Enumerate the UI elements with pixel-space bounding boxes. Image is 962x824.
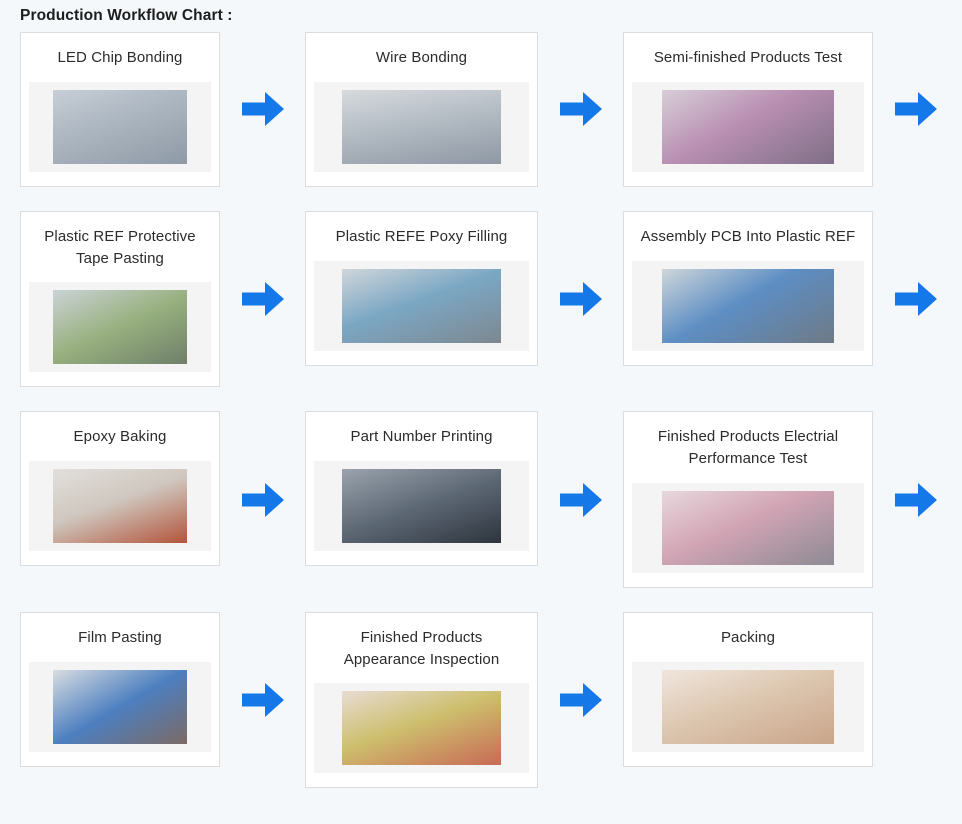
workflow-row: LED Chip BondingWire BondingSemi-finishe… [0,32,962,187]
step-photo-band [632,662,864,752]
film-pasting-photo [53,670,188,744]
step-card[interactable]: Finished Products Appearance Inspection [305,612,538,789]
workflow-step: Plastic REFE Poxy Filling [305,211,538,366]
workflow-row: Plastic REF Protective Tape PastingPlast… [0,211,962,388]
step-title: Wire Bonding [370,47,473,69]
arrow-right-icon [873,411,958,588]
plastic-ref-protective-tape-pasting-photo [53,290,188,364]
step-title: Epoxy Baking [68,426,173,448]
arrow-right-icon [873,211,958,388]
step-title: Plastic REFE Poxy Filling [330,226,514,248]
step-card[interactable]: Part Number Printing [305,411,538,566]
arrow-right-icon [220,411,305,588]
packing-photo [662,670,834,744]
step-photo-band [632,261,864,351]
step-title: Film Pasting [72,627,168,649]
assembly-pcb-into-plastic-ref-photo [662,269,834,343]
workflow-step: Finished Products Electrial Performance … [623,411,873,588]
epoxy-baking-photo [53,469,188,543]
workflow-step: Packing [623,612,873,767]
step-title: Assembly PCB Into Plastic REF [635,226,862,248]
step-photo-band [29,461,211,551]
step-title: Finished Products Electrial Performance … [632,426,864,470]
finished-products-appearance-inspection-photo [342,691,501,765]
step-card[interactable]: Packing [623,612,873,767]
workflow-row: Epoxy BakingPart Number PrintingFinished… [0,411,962,588]
plastic-refe-poxy-filling-photo [342,269,501,343]
workflow-step: Film Pasting [20,612,220,767]
part-number-printing-photo [342,469,501,543]
workflow-step: LED Chip Bonding [20,32,220,187]
arrow-right-icon [538,411,623,588]
step-title: Semi-finished Products Test [648,47,848,69]
step-card[interactable]: Semi-finished Products Test [623,32,873,187]
arrow-right-icon [220,612,305,789]
step-photo-band [632,82,864,172]
step-title: Part Number Printing [344,426,498,448]
arrow-right-icon [538,32,623,187]
step-card[interactable]: Wire Bonding [305,32,538,187]
arrow-right-icon [873,32,958,187]
page-title: Production Workflow Chart : [20,5,233,27]
workflow-step: Wire Bonding [305,32,538,187]
semi-finished-products-test-photo [662,90,834,164]
step-card[interactable]: Epoxy Baking [20,411,220,566]
workflow-step: Semi-finished Products Test [623,32,873,187]
workflow-grid: LED Chip BondingWire BondingSemi-finishe… [0,32,962,788]
step-title: Plastic REF Protective Tape Pasting [29,226,211,270]
step-photo-band [29,282,211,372]
workflow-step: Assembly PCB Into Plastic REF [623,211,873,366]
arrow-right-icon [220,211,305,388]
step-card[interactable]: Finished Products Electrial Performance … [623,411,873,588]
step-title: LED Chip Bonding [51,47,188,69]
workflow-step: Part Number Printing [305,411,538,566]
step-photo-band [314,683,529,773]
step-title: Finished Products Appearance Inspection [314,627,529,671]
led-chip-bonding-photo [53,90,188,164]
workflow-step: Finished Products Appearance Inspection [305,612,538,789]
step-title: Packing [715,627,781,649]
step-photo-band [632,483,864,573]
step-photo-band [29,662,211,752]
step-photo-band [314,82,529,172]
step-card[interactable]: Plastic REF Protective Tape Pasting [20,211,220,388]
step-card[interactable]: Plastic REFE Poxy Filling [305,211,538,366]
finished-products-electrial-performance-test-photo [662,491,834,565]
workflow-chart-page: Production Workflow Chart : LED Chip Bon… [0,0,962,824]
workflow-step: Epoxy Baking [20,411,220,566]
arrow-right-icon [538,211,623,388]
arrow-right-icon [538,612,623,789]
step-card[interactable]: Film Pasting [20,612,220,767]
step-photo-band [29,82,211,172]
workflow-row: Film PastingFinished Products Appearance… [0,612,962,789]
wire-bonding-photo [342,90,501,164]
step-photo-band [314,261,529,351]
step-card[interactable]: Assembly PCB Into Plastic REF [623,211,873,366]
step-card[interactable]: LED Chip Bonding [20,32,220,187]
step-photo-band [314,461,529,551]
workflow-step: Plastic REF Protective Tape Pasting [20,211,220,388]
arrow-right-icon [220,32,305,187]
